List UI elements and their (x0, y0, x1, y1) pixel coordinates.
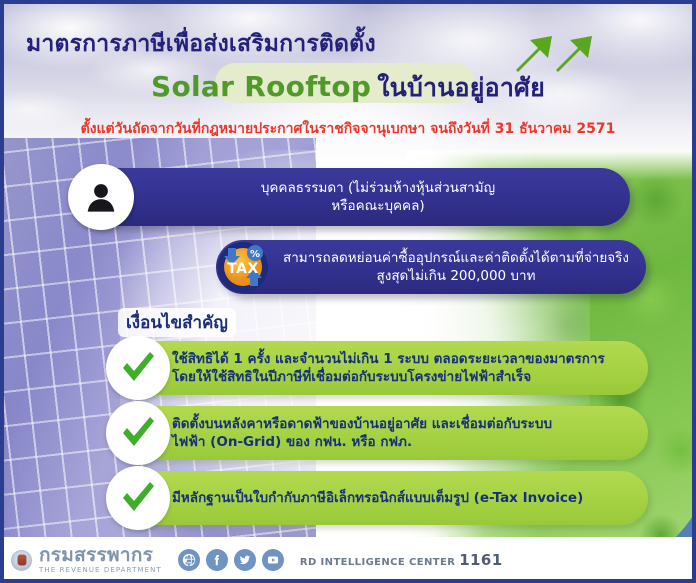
deduction-amount-bar: % TAX สามารถลดหย่อนค่าซื้ออุปกรณ์และค่าต… (216, 240, 646, 294)
svg-text:%: % (250, 249, 260, 260)
taxpayer-type-bar: บุคคลธรรมดา (ไม่ร่วมห้างหุ้นส่วนสามัญ หร… (72, 168, 630, 226)
condition-item-2: ติดตั้งบนหลังคาหรือดาดฟ้าของบ้านอยู่อาศั… (112, 406, 648, 460)
condition-1-text: ใช้สิทธิได้ 1 ครั้ง และจำนวนไม่เกิน 1 ระ… (172, 350, 648, 386)
double-up-right-arrow-icon (508, 30, 600, 78)
taxpayer-type-text: บุคคลธรรมดา (ไม่ร่วมห้างหุ้นส่วนสามัญ หร… (140, 179, 630, 215)
condition-item-1: ใช้สิทธิได้ 1 ครั้ง และจำนวนไม่เกิน 1 ระ… (112, 341, 648, 395)
green-check-icon (106, 401, 170, 465)
footer: กรมสรรพากร THE REVENUE DEPARTMENT RD INT… (0, 537, 696, 583)
twitter-icon[interactable] (234, 549, 256, 571)
condition-2-text: ติดตั้งบนหลังคาหรือดาดฟ้าของบ้านอยู่อาศั… (172, 415, 648, 451)
deduction-line-1: สามารถลดหย่อนค่าซื้ออุปกรณ์และค่าติดตั้ง… (280, 249, 632, 267)
title-solar-rooftop: Solar Rooftop (151, 70, 371, 103)
revenue-department-seal-icon (11, 550, 32, 571)
tax-percent-circle-icon: % TAX (210, 234, 276, 300)
person-avatar-icon (68, 164, 134, 230)
org-name-thai: กรมสรรพากร (39, 546, 162, 565)
org-name-english: THE REVENUE DEPARTMENT (39, 567, 162, 574)
header-subtitle: ตั้งแต่วันถัดจากวันที่กฎหมายประกาศในราชก… (0, 118, 696, 140)
youtube-icon[interactable] (262, 549, 284, 571)
title-line-1: มาตรการภาษีเพื่อส่งเสริมการติดตั้ง (26, 26, 376, 62)
condition-item-3: มีหลักฐานเป็นใบกำกับภาษีอิเล็กทรอนิกส์แบ… (112, 471, 648, 525)
revenue-department-wordmark: กรมสรรพากร THE REVENUE DEPARTMENT (39, 546, 162, 574)
taxpayer-line-1: บุคคลธรรมดา (ไม่ร่วมห้างหุ้นส่วนสามัญ (140, 179, 616, 197)
contact-number: 1161 (459, 551, 502, 569)
condition-2-line-1: ติดตั้งบนหลังคาหรือดาดฟ้าของบ้านอยู่อาศั… (172, 415, 634, 433)
deduction-line-2: สูงสุดไม่เกิน 200,000 บาท (280, 267, 632, 285)
green-check-icon (106, 466, 170, 530)
green-check-icon (106, 336, 170, 400)
svg-text:TAX: TAX (227, 261, 259, 277)
condition-1-line-1: ใช้สิทธิได้ 1 ครั้ง และจำนวนไม่เกิน 1 ระ… (172, 350, 634, 368)
condition-3-text: มีหลักฐานเป็นใบกำกับภาษีอิเล็กทรอนิกส์แบ… (172, 489, 648, 507)
taxpayer-line-2: หรือคณะบุคคล) (140, 197, 616, 215)
social-links[interactable] (178, 549, 284, 571)
globe-icon[interactable] (178, 549, 200, 571)
intelligence-center-contact: RD INTELLIGENCE CENTER 1161 (300, 551, 503, 569)
conditions-heading: เงื่อนไขสำคัญ (118, 308, 236, 337)
header: มาตรการภาษีเพื่อส่งเสริมการติดตั้ง Solar… (0, 0, 696, 150)
condition-1-line-2: โดยให้ใช้สิทธิในปีภาษีที่เชื่อมต่อกับระบ… (172, 368, 634, 386)
facebook-icon[interactable] (206, 549, 228, 571)
contact-label: RD INTELLIGENCE CENTER (300, 557, 455, 568)
deduction-amount-text: สามารถลดหย่อนค่าซื้ออุปกรณ์และค่าติดตั้ง… (280, 249, 646, 285)
infographic-poster: มาตรการภาษีเพื่อส่งเสริมการติดตั้ง Solar… (0, 0, 696, 583)
condition-2-line-2: ไฟฟ้า (On-Grid) ของ กฟน. หรือ กฟภ. (172, 433, 634, 451)
condition-3-line-1: มีหลักฐานเป็นใบกำกับภาษีอิเล็กทรอนิกส์แบ… (172, 489, 634, 507)
